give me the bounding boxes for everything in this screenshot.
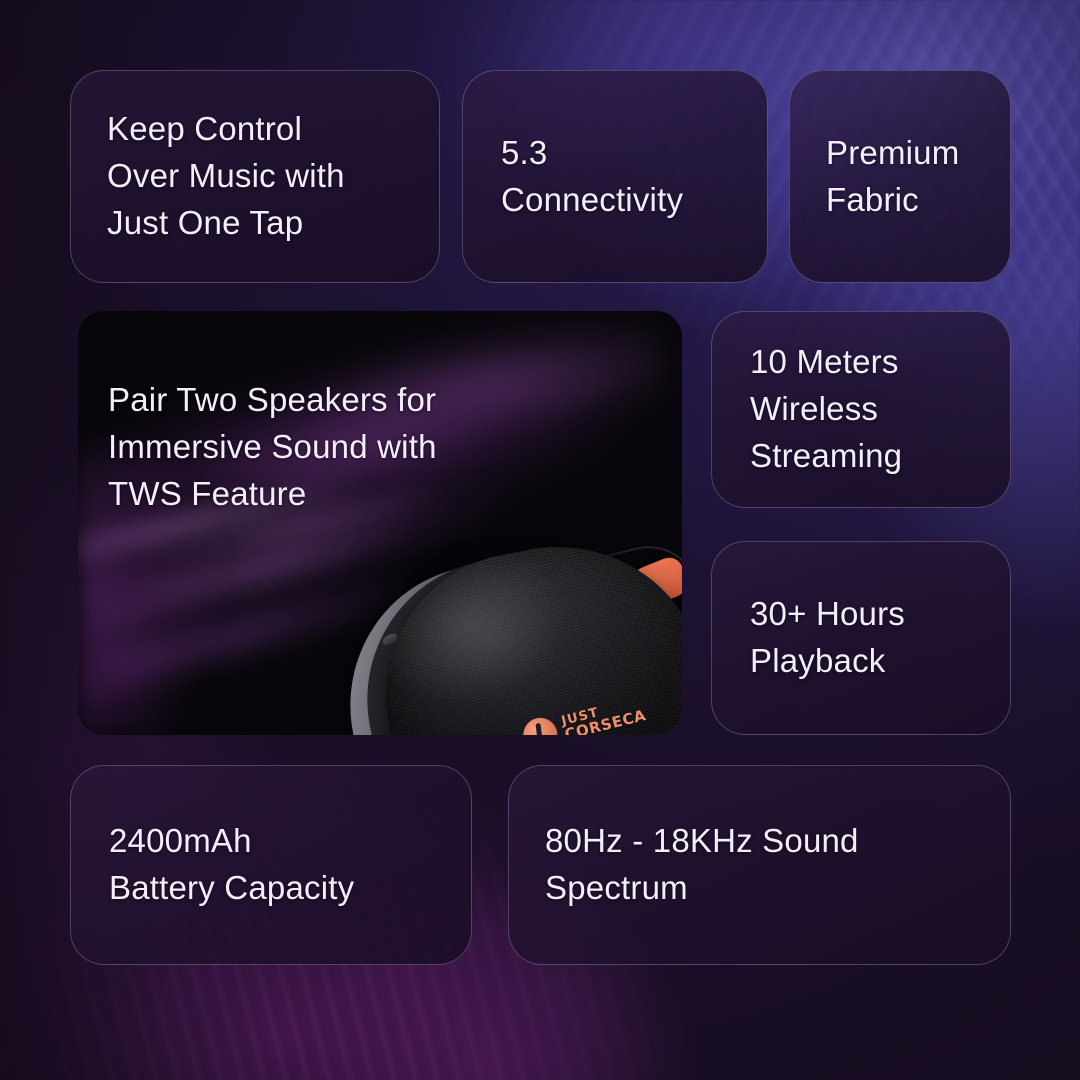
feature-card-playback: 30+ Hours Playback [711,541,1011,735]
feature-card-tap-control: Keep Control Over Music with Just One Ta… [70,70,440,283]
feature-card-sound-spectrum: 80Hz - 18KHz Sound Spectrum [508,765,1011,965]
feature-card-tws-product: Pair Two Speakers for Immersive Sound wi… [78,311,682,735]
feature-label-battery: 2400mAh Battery Capacity [71,818,354,912]
feature-label-tap-control: Keep Control Over Music with Just One Ta… [71,106,345,247]
feature-label-sound-spectrum: 80Hz - 18KHz Sound Spectrum [509,818,859,912]
feature-label-playback: 30+ Hours Playback [712,591,905,685]
feature-card-wireless-range: 10 Meters Wireless Streaming [711,311,1011,508]
feature-label-tws: Pair Two Speakers for Immersive Sound wi… [78,311,437,518]
product-image-speaker: JUST CORSECA [346,539,682,735]
feature-card-connectivity: 5.3 Connectivity [462,70,768,283]
feature-label-fabric: Premium Fabric [790,130,959,224]
infographic-canvas: Keep Control Over Music with Just One Ta… [0,0,1080,1080]
feature-card-fabric: Premium Fabric [789,70,1011,283]
feature-card-battery: 2400mAh Battery Capacity [70,765,472,965]
feature-label-connectivity: 5.3 Connectivity [463,130,683,224]
feature-label-wireless-range: 10 Meters Wireless Streaming [712,339,902,480]
